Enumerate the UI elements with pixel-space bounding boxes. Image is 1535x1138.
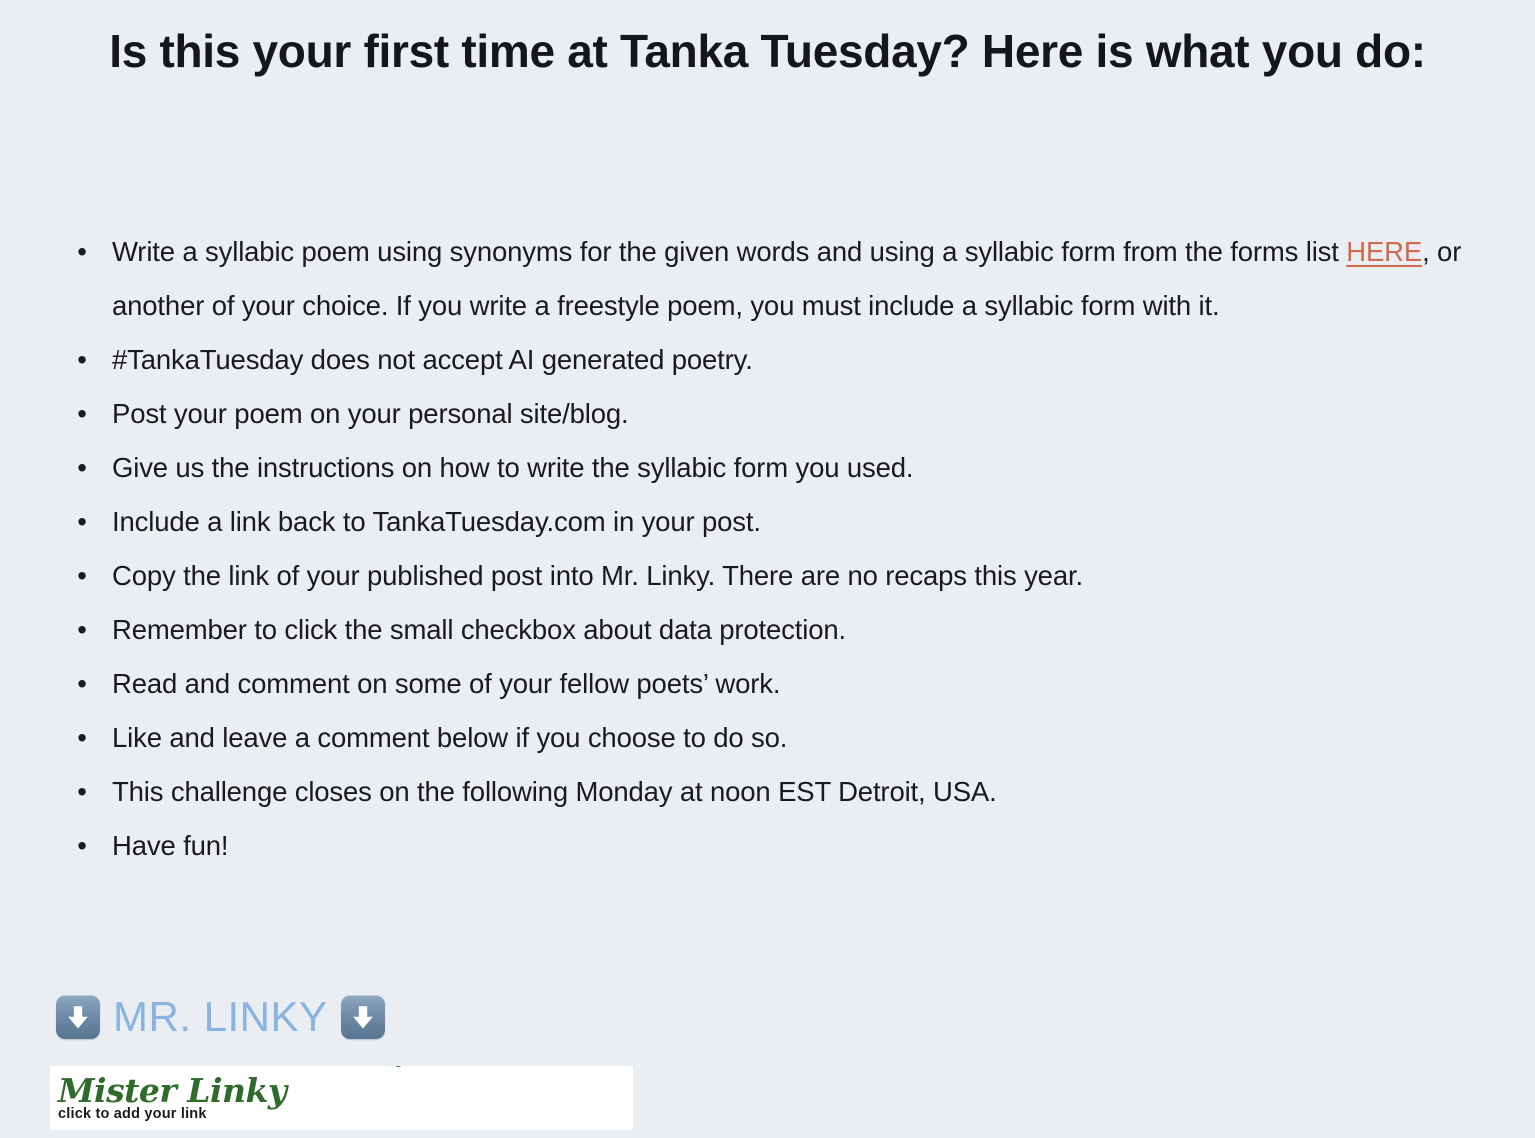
list-item: •Write a syllabic poem using synonyms fo… — [0, 225, 1535, 333]
mister-linky-status-block: #TankaTuesday 8 links. You’re next! — [246, 1066, 633, 1130]
post-content-area: Is this your first time at Tanka Tuesday… — [0, 0, 1535, 1138]
instructions-list: •Write a syllabic poem using synonyms fo… — [0, 225, 1535, 873]
mister-linky-wordmark: Mister Linky — [58, 1073, 246, 1109]
list-item: •Post your poem on your personal site/bl… — [0, 387, 1535, 441]
list-item: •Like and leave a comment below if you c… — [0, 711, 1535, 765]
bullet-icon: • — [76, 603, 88, 657]
list-item-text: Have fun! — [112, 830, 228, 861]
forms-list-here-link[interactable]: HERE — [1346, 236, 1422, 267]
arrow-down-icon — [341, 995, 385, 1039]
mister-linky-widget[interactable]: Mister Linky click to add your link #Tan… — [50, 1066, 633, 1130]
bullet-icon: • — [76, 657, 88, 711]
bullet-icon: • — [76, 441, 88, 495]
list-item: •#TankaTuesday does not accept AI genera… — [0, 333, 1535, 387]
linky-hashtag: #TankaTuesday — [246, 1066, 633, 1070]
bullet-icon: • — [76, 549, 88, 603]
list-item-text: #TankaTuesday does not accept AI generat… — [112, 344, 753, 375]
list-item-text-before-link: Write a syllabic poem using synonyms for… — [112, 236, 1346, 267]
mr-linky-label: MR. LINKY — [113, 993, 328, 1041]
mr-linky-heading: MR. LINKY — [56, 993, 385, 1041]
list-item: •Have fun! — [0, 819, 1535, 873]
list-item-text: Like and leave a comment below if you ch… — [112, 722, 787, 753]
bullet-icon: • — [76, 225, 88, 279]
mister-linky-logo[interactable]: Mister Linky click to add your link — [50, 1073, 246, 1123]
bullet-icon: • — [76, 711, 88, 765]
list-item: •Give us the instructions on how to writ… — [0, 441, 1535, 495]
arrow-down-icon — [56, 995, 100, 1039]
list-item: •Read and comment on some of your fellow… — [0, 657, 1535, 711]
list-item: •This challenge closes on the following … — [0, 765, 1535, 819]
mister-linky-tagline: click to add your link — [58, 1106, 246, 1123]
list-item-text: Give us the instructions on how to write… — [112, 452, 913, 483]
list-item-text: This challenge closes on the following M… — [112, 776, 997, 807]
page-title: Is this your first time at Tanka Tuesday… — [0, 0, 1535, 94]
list-item-text: Include a link back to TankaTuesday.com … — [112, 506, 761, 537]
list-item-text: Read and comment on some of your fellow … — [112, 668, 780, 699]
list-item: •Copy the link of your published post in… — [0, 549, 1535, 603]
linky-link-count: 8 links. You’re next! — [246, 1126, 633, 1130]
bullet-icon: • — [76, 387, 88, 441]
list-item: •Include a link back to TankaTuesday.com… — [0, 495, 1535, 549]
bullet-icon: • — [76, 819, 88, 873]
list-item-text: Post your poem on your personal site/blo… — [112, 398, 629, 429]
bullet-icon: • — [76, 333, 88, 387]
list-item-text: Remember to click the small checkbox abo… — [112, 614, 846, 645]
bullet-icon: • — [76, 765, 88, 819]
list-item: •Remember to click the small checkbox ab… — [0, 603, 1535, 657]
list-item-text: Copy the link of your published post int… — [112, 560, 1083, 591]
bullet-icon: • — [76, 495, 88, 549]
